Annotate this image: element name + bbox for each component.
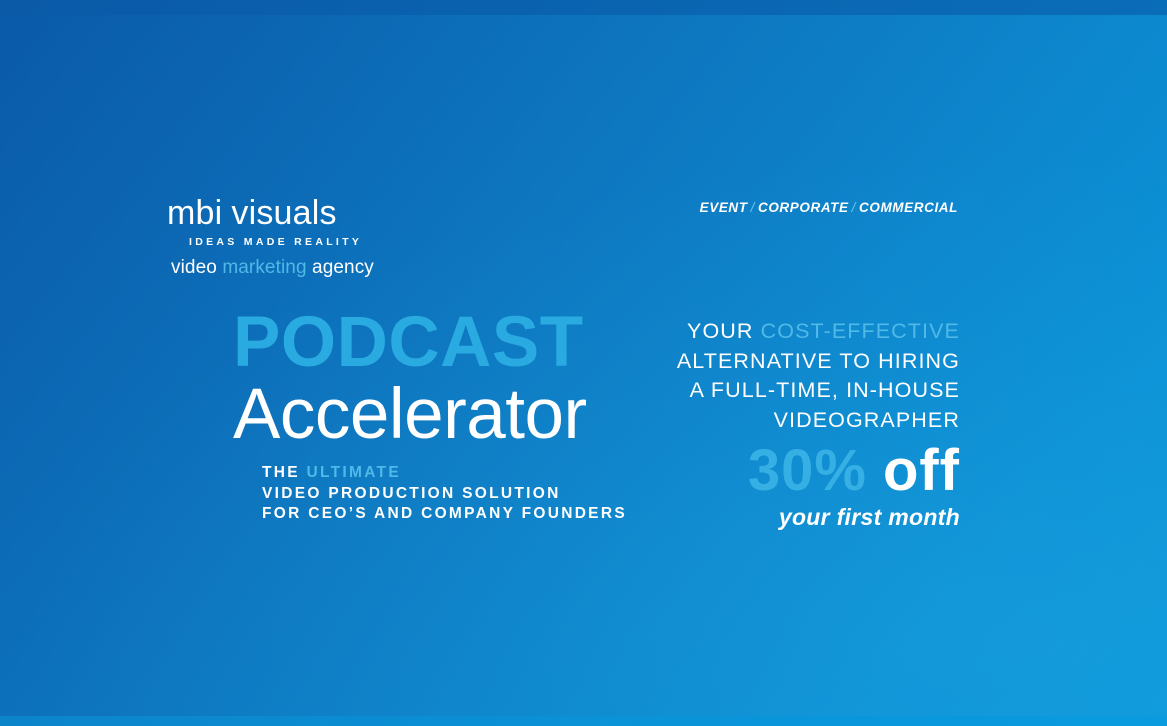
nav-separator: / [748,200,758,215]
pitch-line-3: A FULL-TIME, IN-HOUSE [630,376,960,406]
bottom-edge-band [0,716,1167,726]
nav-item-corporate[interactable]: CORPORATE [758,200,849,215]
pitch-line-4: VIDEOGRAPHER [630,406,960,436]
headline-line-accelerator: Accelerator [233,379,693,451]
top-navigation: EVENT/CORPORATE/COMMERCIAL [700,200,958,215]
offer-headline: 30%off [620,442,960,500]
offer-subtext: your first month [620,506,960,529]
brand-service-agency: agency [312,257,374,278]
brand-tagline: IDEAS MADE REALITY [167,237,497,248]
nav-item-event[interactable]: EVENT [700,200,748,215]
offer-percent: 30% [748,438,867,503]
brand-wordmark-second: visuals [231,194,336,232]
brand-services: video marketing agency [167,258,497,277]
brand-wordmark: mbivisuals [167,196,497,230]
pitch-your: YOUR [687,319,754,343]
top-edge-band [0,0,1167,15]
brand-service-marketing: marketing [222,257,306,278]
pitch-copy: YOUR COST-EFFECTIVE ALTERNATIVE TO HIRIN… [630,317,960,435]
offer-off: off [883,438,960,503]
nav-item-commercial[interactable]: COMMERCIAL [859,200,958,215]
offer-block: 30%off your first month [620,442,960,529]
nav-separator: / [849,200,859,215]
brand-logo[interactable]: mbivisuals IDEAS MADE REALITY video mark… [167,196,497,277]
pitch-line-2: ALTERNATIVE TO HIRING [630,347,960,377]
subhead-ultimate: ULTIMATE [307,464,401,481]
main-headline: PODCAST Accelerator [233,310,693,452]
pitch-line-1: YOUR COST-EFFECTIVE [630,317,960,347]
pitch-cost-effective: COST-EFFECTIVE [761,319,960,343]
brand-service-video: video [171,257,217,278]
brand-wordmark-first: mbi [167,194,222,232]
subhead-the: THE [262,464,300,481]
headline-line-podcast: PODCAST [233,310,693,375]
promo-poster: mbivisuals IDEAS MADE REALITY video mark… [0,0,1167,726]
